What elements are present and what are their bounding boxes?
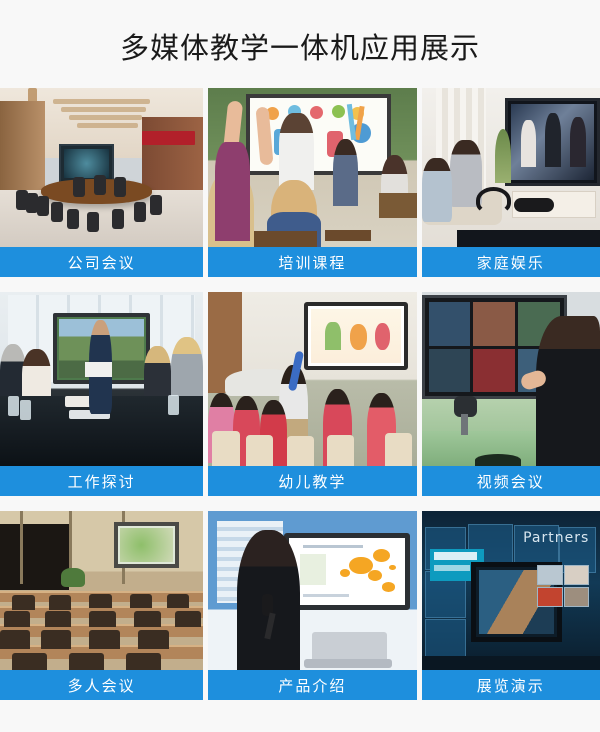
gallery-cell-exhibition[interactable]: Partners 展览演示	[422, 511, 600, 700]
headphones-prop	[476, 187, 511, 214]
caption-business-discussion: 工作探讨	[0, 466, 203, 496]
kindergarten-display	[304, 302, 408, 369]
caption-video-conference: 视频会议	[422, 466, 600, 496]
photo-home-entertainment	[422, 88, 600, 247]
caption-training-classroom: 培训课程	[208, 247, 416, 277]
photo-video-conference	[422, 292, 600, 466]
gallery-cell-business-discussion[interactable]: 工作探讨	[0, 292, 203, 496]
caption-lecture-hall: 多人会议	[0, 670, 203, 700]
gallery-grid: 公司会议	[0, 88, 600, 700]
application-showcase-page: 多媒体教学一体机应用展示	[0, 0, 600, 732]
photo-exhibition: Partners	[422, 511, 600, 670]
gallery-cell-video-conference[interactable]: 视频会议	[422, 292, 600, 496]
photo-product-presentation	[208, 511, 416, 670]
lecture-hall-display	[114, 522, 179, 568]
photo-lecture-hall	[0, 511, 203, 670]
gallery-cell-training-classroom[interactable]: 培训课程	[208, 88, 416, 277]
exhibition-partners-text: Partners	[523, 530, 589, 546]
gallery-row: 公司会议	[0, 88, 600, 277]
photo-training-classroom	[208, 88, 416, 247]
photo-kindergarten	[208, 292, 416, 466]
gallery-row: 多人会议	[0, 511, 600, 700]
conference-banner	[142, 131, 195, 145]
caption-product-presentation: 产品介绍	[208, 670, 416, 700]
gallery-cell-product-presentation[interactable]: 产品介绍	[208, 511, 416, 700]
caption-conference-room: 公司会议	[0, 247, 203, 277]
page-title: 多媒体教学一体机应用展示	[0, 0, 600, 67]
gallery-cell-conference-room[interactable]: 公司会议	[0, 88, 203, 277]
conference-display	[59, 144, 114, 183]
gallery-row: 工作探讨	[0, 292, 600, 496]
gallery-cell-home-entertainment[interactable]: 家庭娱乐	[422, 88, 600, 277]
gallery-cell-lecture-hall[interactable]: 多人会议	[0, 511, 203, 700]
photo-business-discussion	[0, 292, 203, 466]
gallery-cell-kindergarten[interactable]: 幼儿教学	[208, 292, 416, 496]
product-display	[284, 533, 411, 610]
caption-kindergarten: 幼儿教学	[208, 466, 416, 496]
caption-exhibition: 展览演示	[422, 670, 600, 700]
caption-home-entertainment: 家庭娱乐	[422, 247, 600, 277]
gamepad-prop	[514, 198, 553, 212]
photo-conference-room	[0, 88, 203, 247]
